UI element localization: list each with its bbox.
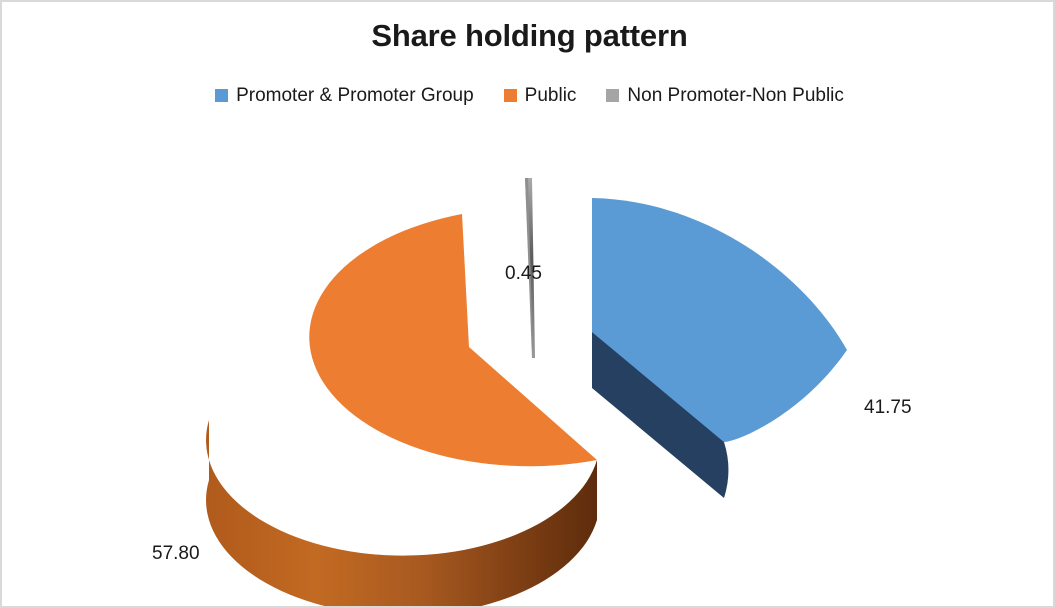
legend-label-public: Public xyxy=(525,86,577,105)
legend-item-promoter[interactable]: Promoter & Promoter Group xyxy=(215,86,474,105)
chart-container: Share holding pattern Promoter & Promote… xyxy=(0,0,1055,608)
legend-swatch-non-promoter-icon xyxy=(606,89,619,102)
legend-item-public[interactable]: Public xyxy=(504,86,577,105)
data-label-non-promoter: 0.45 xyxy=(505,263,542,285)
data-label-public: 57.80 xyxy=(152,543,200,565)
legend-swatch-promoter-icon xyxy=(215,89,228,102)
legend-item-non-promoter[interactable]: Non Promoter-Non Public xyxy=(606,86,843,105)
chart-title: Share holding pattern xyxy=(2,18,1055,54)
chart-legend: Promoter & Promoter Group Public Non Pro… xyxy=(2,86,1055,105)
pie-plot-area: 41.75 57.80 0.45 xyxy=(2,120,1055,608)
legend-label-non-promoter: Non Promoter-Non Public xyxy=(627,86,843,105)
pie-slice-public-top xyxy=(309,214,597,466)
legend-label-promoter: Promoter & Promoter Group xyxy=(236,86,474,105)
pie-chart-svg xyxy=(2,120,1055,608)
legend-swatch-public-icon xyxy=(504,89,517,102)
data-label-promoter: 41.75 xyxy=(864,397,912,419)
